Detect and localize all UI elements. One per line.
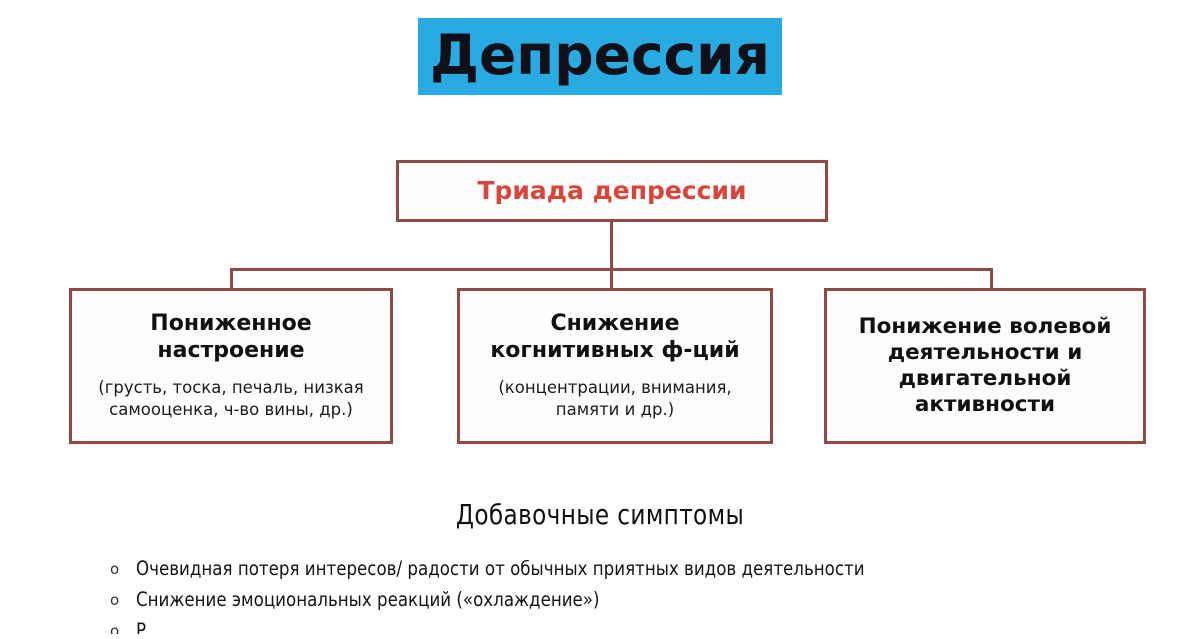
- branch-node-3-title: Понижение волевой деятельности и двигате…: [827, 314, 1143, 419]
- page-title-text: Депрессия: [418, 18, 782, 95]
- branch-node-3: Понижение волевой деятельности и двигате…: [824, 288, 1146, 444]
- list-item-text: Р: [136, 618, 146, 634]
- triad-node-label: Триада депрессии: [477, 177, 746, 205]
- list-item: o Р: [104, 618, 1184, 634]
- bullet-circle-icon: o: [104, 587, 136, 613]
- branch-node-2: Снижение когнитивных ф-ций (концентрации…: [457, 288, 773, 444]
- triad-node: Триада депрессии: [396, 160, 828, 222]
- branch-node-1-detail: (грусть, тоска, печаль, низкая самооценк…: [72, 377, 390, 421]
- bullet-circle-icon: o: [104, 556, 136, 582]
- additional-symptoms-heading: Добавочные симптомы: [48, 498, 1152, 531]
- branch-node-1: Пониженное настроение (грусть, тоска, пе…: [69, 288, 393, 444]
- diagram-canvas: Депрессия Триада депрессии Пониженное на…: [0, 0, 1200, 628]
- connector-branch-3: [990, 268, 993, 290]
- list-item-text: Снижение эмоциональных реакций («охлажде…: [136, 587, 600, 613]
- branch-node-2-detail: (концентрации, внимания, памяти и др.): [460, 377, 770, 421]
- connector-branch-1: [230, 268, 233, 290]
- branch-node-1-title: Пониженное настроение: [72, 311, 390, 365]
- additional-symptoms-list: o Очевидная потеря интересов/ радости от…: [104, 556, 1184, 639]
- bullet-circle-icon: o: [104, 618, 136, 634]
- list-item: o Снижение эмоциональных реакций («охлаж…: [104, 587, 1184, 613]
- branch-node-2-title: Снижение когнитивных ф-ций: [460, 311, 770, 365]
- page-title: Депрессия: [0, 18, 1200, 95]
- connector-root-stem: [610, 222, 613, 270]
- list-item-text: Очевидная потеря интересов/ радости от о…: [136, 556, 865, 582]
- list-item: o Очевидная потеря интересов/ радости от…: [104, 556, 1184, 582]
- connector-branch-2: [610, 268, 613, 290]
